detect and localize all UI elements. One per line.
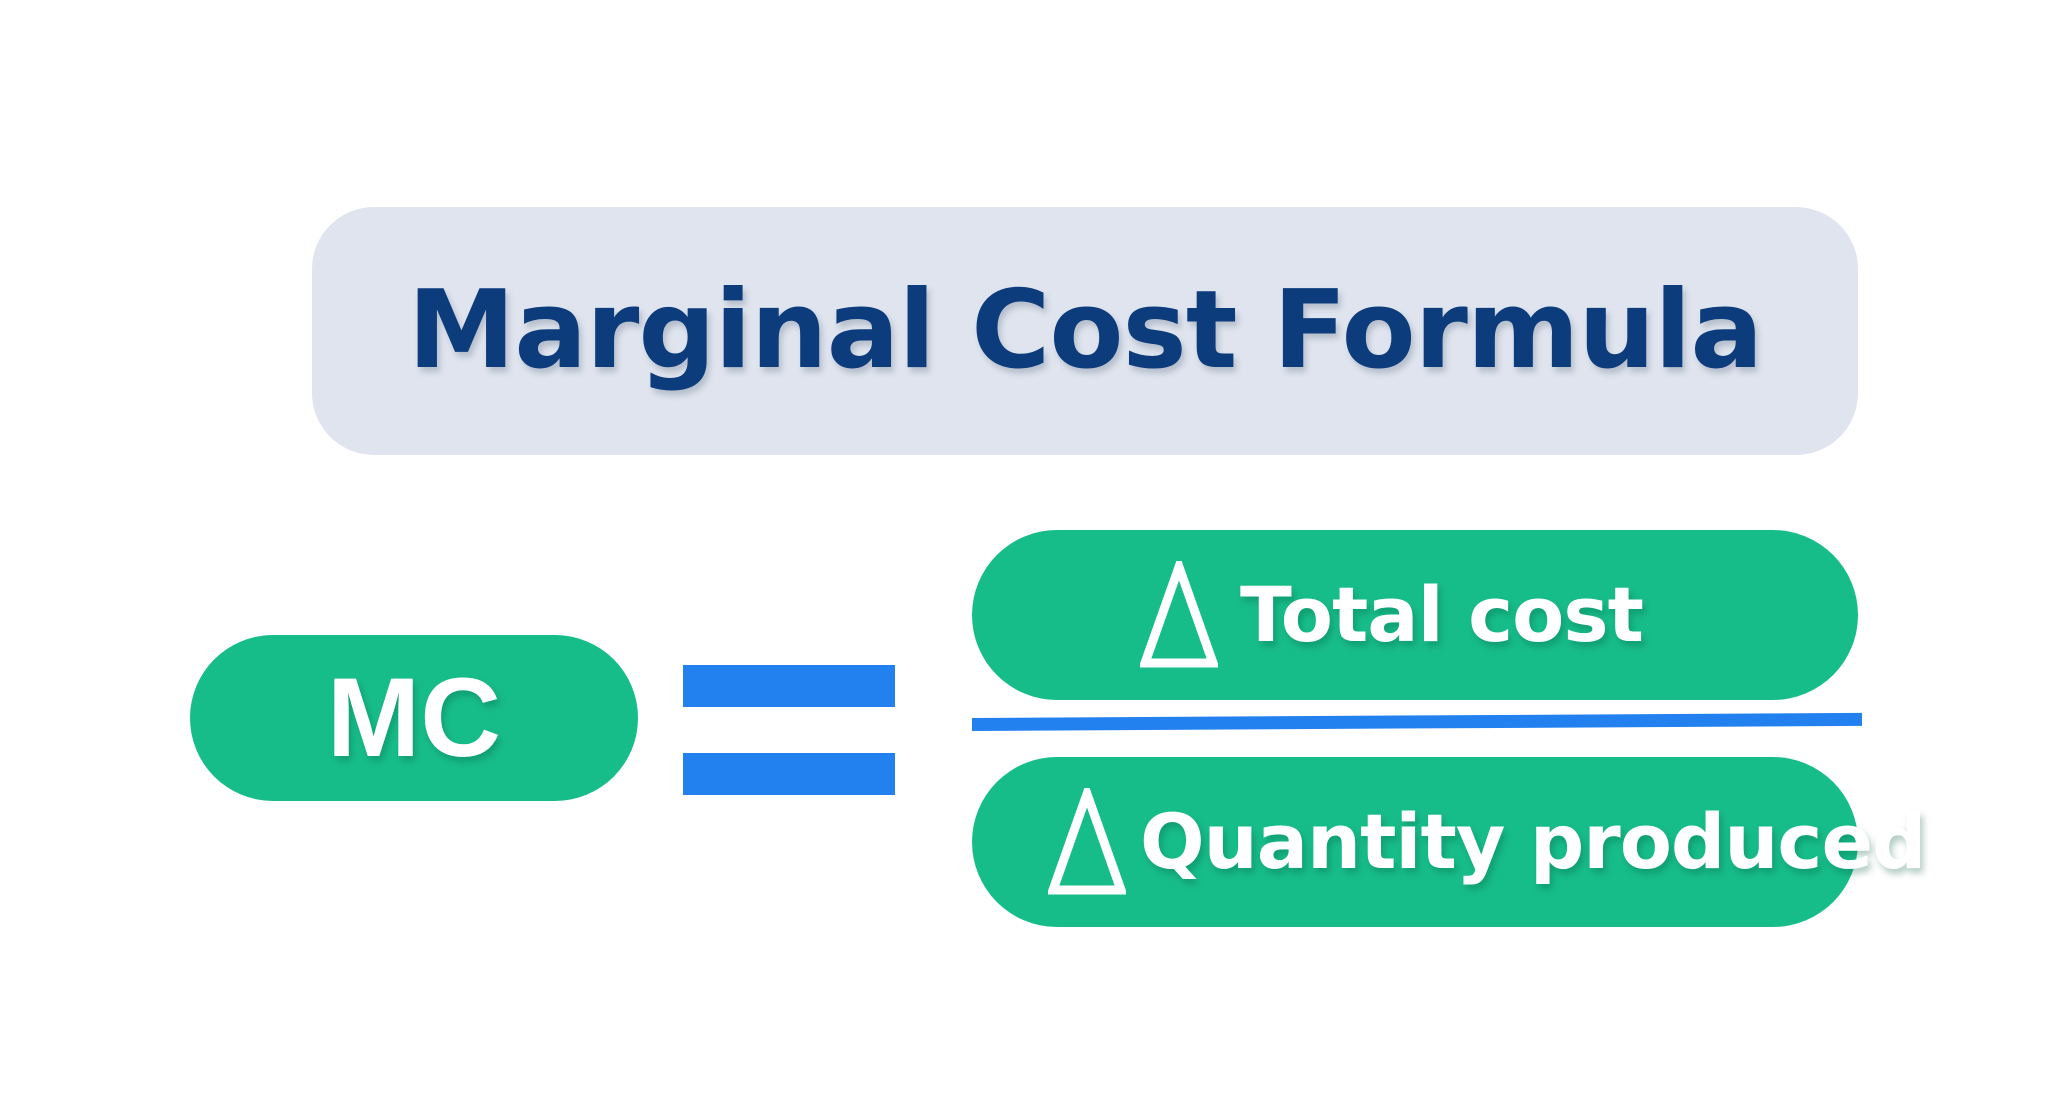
denominator-pill: Quantity produced (972, 757, 1858, 927)
equals-bar-bottom (683, 753, 895, 795)
numerator-label: Total cost (1240, 577, 1643, 653)
numerator-pill: Total cost (972, 530, 1858, 700)
equals-bar-top (683, 665, 895, 707)
marginal-cost-pill: MC (190, 635, 638, 801)
equals-sign-icon (683, 665, 895, 795)
fraction-bar (972, 713, 1862, 731)
delta-icon (1140, 561, 1218, 669)
denominator-label: Quantity produced (1140, 804, 1925, 880)
fraction-group: Total cost Quantity produced (972, 530, 1862, 926)
marginal-cost-label: MC (327, 662, 501, 774)
delta-icon (1048, 788, 1126, 896)
title-banner: Marginal Cost Formula (312, 207, 1858, 455)
formula-infographic: Marginal Cost Formula MC Total cost Quan… (0, 0, 2061, 1097)
page-title: Marginal Cost Formula (408, 277, 1762, 385)
